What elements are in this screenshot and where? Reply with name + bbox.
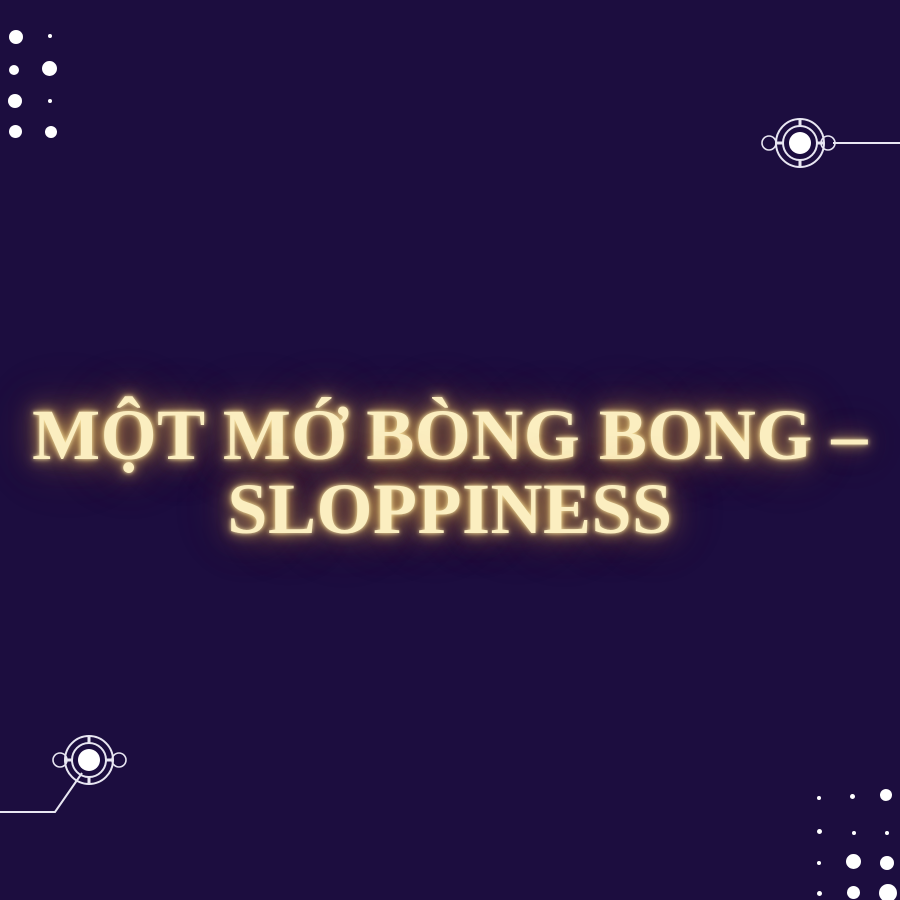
decorative-dot	[850, 794, 855, 799]
decorative-dot	[817, 829, 822, 834]
small-circle-right	[112, 753, 126, 767]
small-circle-left	[762, 136, 776, 150]
decorative-dot	[9, 65, 19, 75]
decorative-dot	[885, 831, 889, 835]
page-title: MỘT MỚ BÒNG BONG – SLOPPINESS	[0, 398, 900, 546]
decorative-dot	[42, 61, 57, 76]
mid-ring	[783, 126, 817, 160]
title-line-1: MỘT MỚ BÒNG BONG –	[0, 398, 900, 472]
title-line-2: SLOPPINESS	[0, 472, 900, 546]
decorative-dot	[9, 125, 22, 138]
mid-ring	[72, 743, 106, 777]
decorative-dot	[817, 891, 822, 896]
decorative-dot	[8, 94, 22, 108]
decorative-dot	[48, 99, 52, 103]
small-circle-left	[53, 753, 67, 767]
decorative-dot	[846, 854, 861, 869]
decorative-dot	[48, 34, 52, 38]
bottom-left-emblem	[0, 725, 140, 830]
inner-dot	[789, 132, 811, 154]
decorative-dot	[880, 789, 892, 801]
decorative-dot	[9, 30, 23, 44]
poster-canvas: MỘT MỚ BÒNG BONG – SLOPPINESS	[0, 0, 900, 900]
decorative-dot	[45, 126, 57, 138]
outer-ring	[776, 119, 824, 167]
decorative-dot	[852, 831, 856, 835]
decorative-dot	[847, 886, 860, 899]
top-right-emblem	[745, 105, 900, 185]
decorative-dot	[880, 856, 894, 870]
decorative-dot	[817, 796, 821, 800]
small-circle-right	[821, 136, 835, 150]
decorative-dot	[817, 861, 821, 865]
outer-ring	[65, 736, 113, 784]
connector-line	[0, 773, 82, 812]
inner-dot	[78, 749, 100, 771]
decorative-dot	[879, 884, 897, 900]
